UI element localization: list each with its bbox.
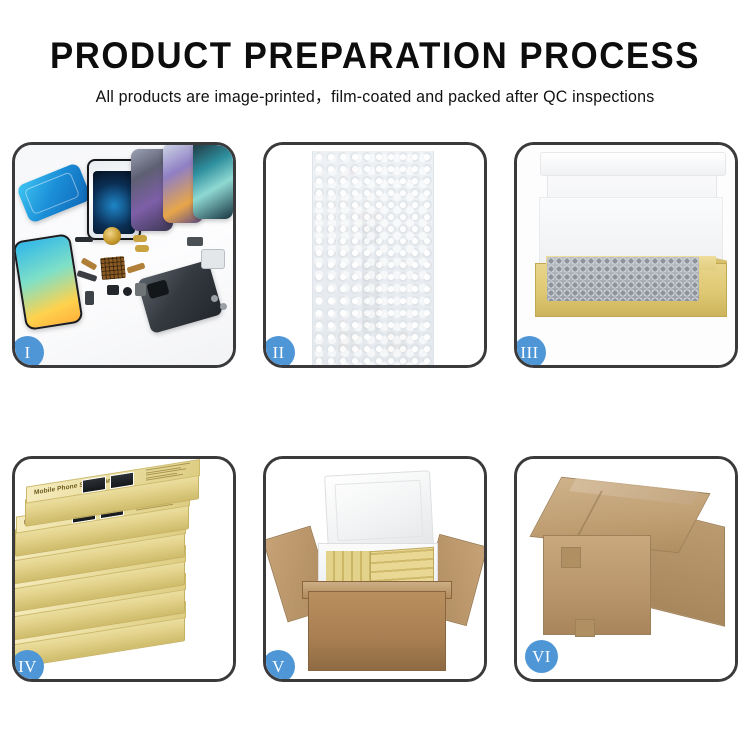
process-step-6[interactable]: VI <box>514 456 738 682</box>
step-number-badge-3: III <box>514 336 546 368</box>
process-step-3[interactable]: III <box>514 142 738 368</box>
process-grid: I II <box>12 142 738 682</box>
process-step-4[interactable]: Mobile Phone Spare Parts Mobile Phone Sp… <box>12 456 236 682</box>
step-1-image <box>15 145 233 365</box>
step-5-image <box>266 459 484 679</box>
carton-tab-icon <box>575 619 595 637</box>
foam-lid-icon <box>324 470 434 551</box>
coil-part-icon <box>103 227 121 245</box>
box-stack: Mobile Phone Spare Parts Mobile Phone Sp… <box>15 477 233 677</box>
shipping-carton-icon <box>308 591 446 671</box>
step-number-badge-5: V <box>263 650 295 682</box>
page-subtitle: All products are image-printed，film-coat… <box>11 78 739 107</box>
step-number-badge-4: IV <box>12 650 44 682</box>
bubble-wrapped-contents-icon <box>547 257 699 301</box>
step-4-image: Mobile Phone Spare Parts Mobile Phone Sp… <box>15 459 233 679</box>
process-step-1[interactable]: I <box>12 142 236 368</box>
header: PRODUCT PREPARATION PROCESS All products… <box>0 0 750 107</box>
carton-tab-icon <box>561 547 581 568</box>
product-preparation-page: PRODUCT PREPARATION PROCESS All products… <box>0 0 750 750</box>
carton-front-face-icon <box>543 535 651 635</box>
chip-grid-icon <box>100 256 126 280</box>
step-3-image <box>517 145 735 365</box>
page-title: PRODUCT PREPARATION PROCESS <box>23 0 728 78</box>
phone-teal-icon <box>193 145 233 219</box>
step-2-image <box>266 145 484 365</box>
process-step-5[interactable]: V <box>263 456 487 682</box>
process-step-2[interactable]: II <box>263 142 487 368</box>
step-number-badge-2: II <box>263 336 295 368</box>
step-number-badge-6: VI <box>525 640 558 673</box>
step-number-badge-1: I <box>12 336 44 368</box>
